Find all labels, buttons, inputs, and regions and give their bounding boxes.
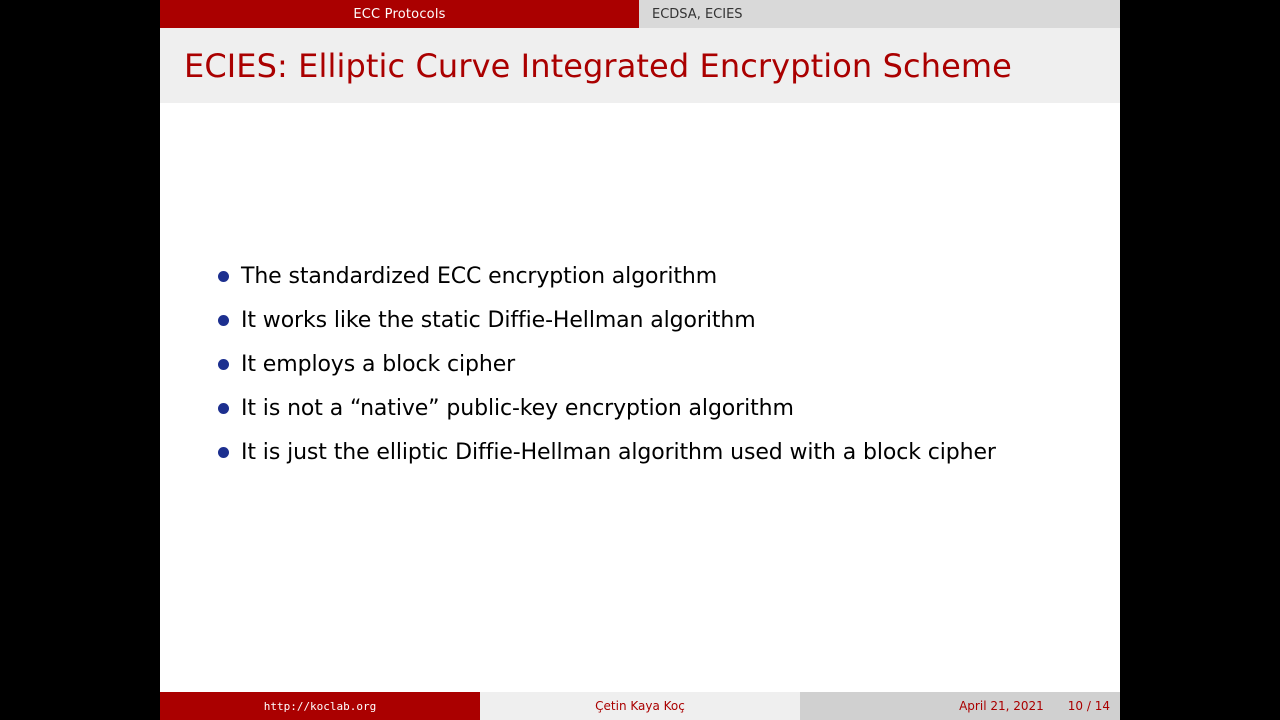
list-item-label: The standardized ECC encryption algorith…: [241, 260, 717, 294]
slide-header-bar: ECC Protocols ECDSA, ECIES: [160, 0, 1120, 28]
list-item-label: It employs a block cipher: [241, 348, 515, 382]
slide-title-band: ECIES: Elliptic Curve Integrated Encrypt…: [160, 28, 1120, 103]
screen: ECC Protocols ECDSA, ECIES ECIES: Ellipt…: [0, 0, 1280, 720]
page-title: ECIES: Elliptic Curve Integrated Encrypt…: [160, 47, 1012, 85]
list-item: It is just the elliptic Diffie-Hellman a…: [218, 436, 1098, 472]
list-item: It employs a block cipher: [218, 348, 1098, 384]
list-item-label: It is just the elliptic Diffie-Hellman a…: [241, 436, 996, 470]
bullet-list: The standardized ECC encryption algorith…: [218, 260, 1098, 480]
slide-body: The standardized ECC encryption algorith…: [160, 103, 1120, 692]
header-subsection-label: ECDSA, ECIES: [639, 0, 1120, 28]
footer-meta: April 21, 2021 10 / 14: [800, 692, 1120, 720]
bullet-dot-icon: [218, 271, 229, 282]
bullet-dot-icon: [218, 315, 229, 326]
bullet-dot-icon: [218, 403, 229, 414]
list-item: It works like the static Diffie-Hellman …: [218, 304, 1098, 340]
bullet-dot-icon: [218, 359, 229, 370]
list-item-label: It is not a “native” public-key encrypti…: [241, 392, 794, 426]
bullet-dot-icon: [218, 447, 229, 458]
footer-page-number: 10 / 14: [1068, 699, 1110, 713]
slide: ECC Protocols ECDSA, ECIES ECIES: Ellipt…: [160, 0, 1120, 720]
slide-footer-bar: http://koclab.org Çetin Kaya Koç April 2…: [160, 692, 1120, 720]
footer-url-link[interactable]: http://koclab.org: [160, 692, 480, 720]
list-item-label: It works like the static Diffie-Hellman …: [241, 304, 756, 338]
header-section-label: ECC Protocols: [160, 0, 639, 28]
list-item: It is not a “native” public-key encrypti…: [218, 392, 1098, 428]
footer-author: Çetin Kaya Koç: [480, 692, 800, 720]
footer-date: April 21, 2021: [959, 699, 1044, 713]
list-item: The standardized ECC encryption algorith…: [218, 260, 1098, 296]
